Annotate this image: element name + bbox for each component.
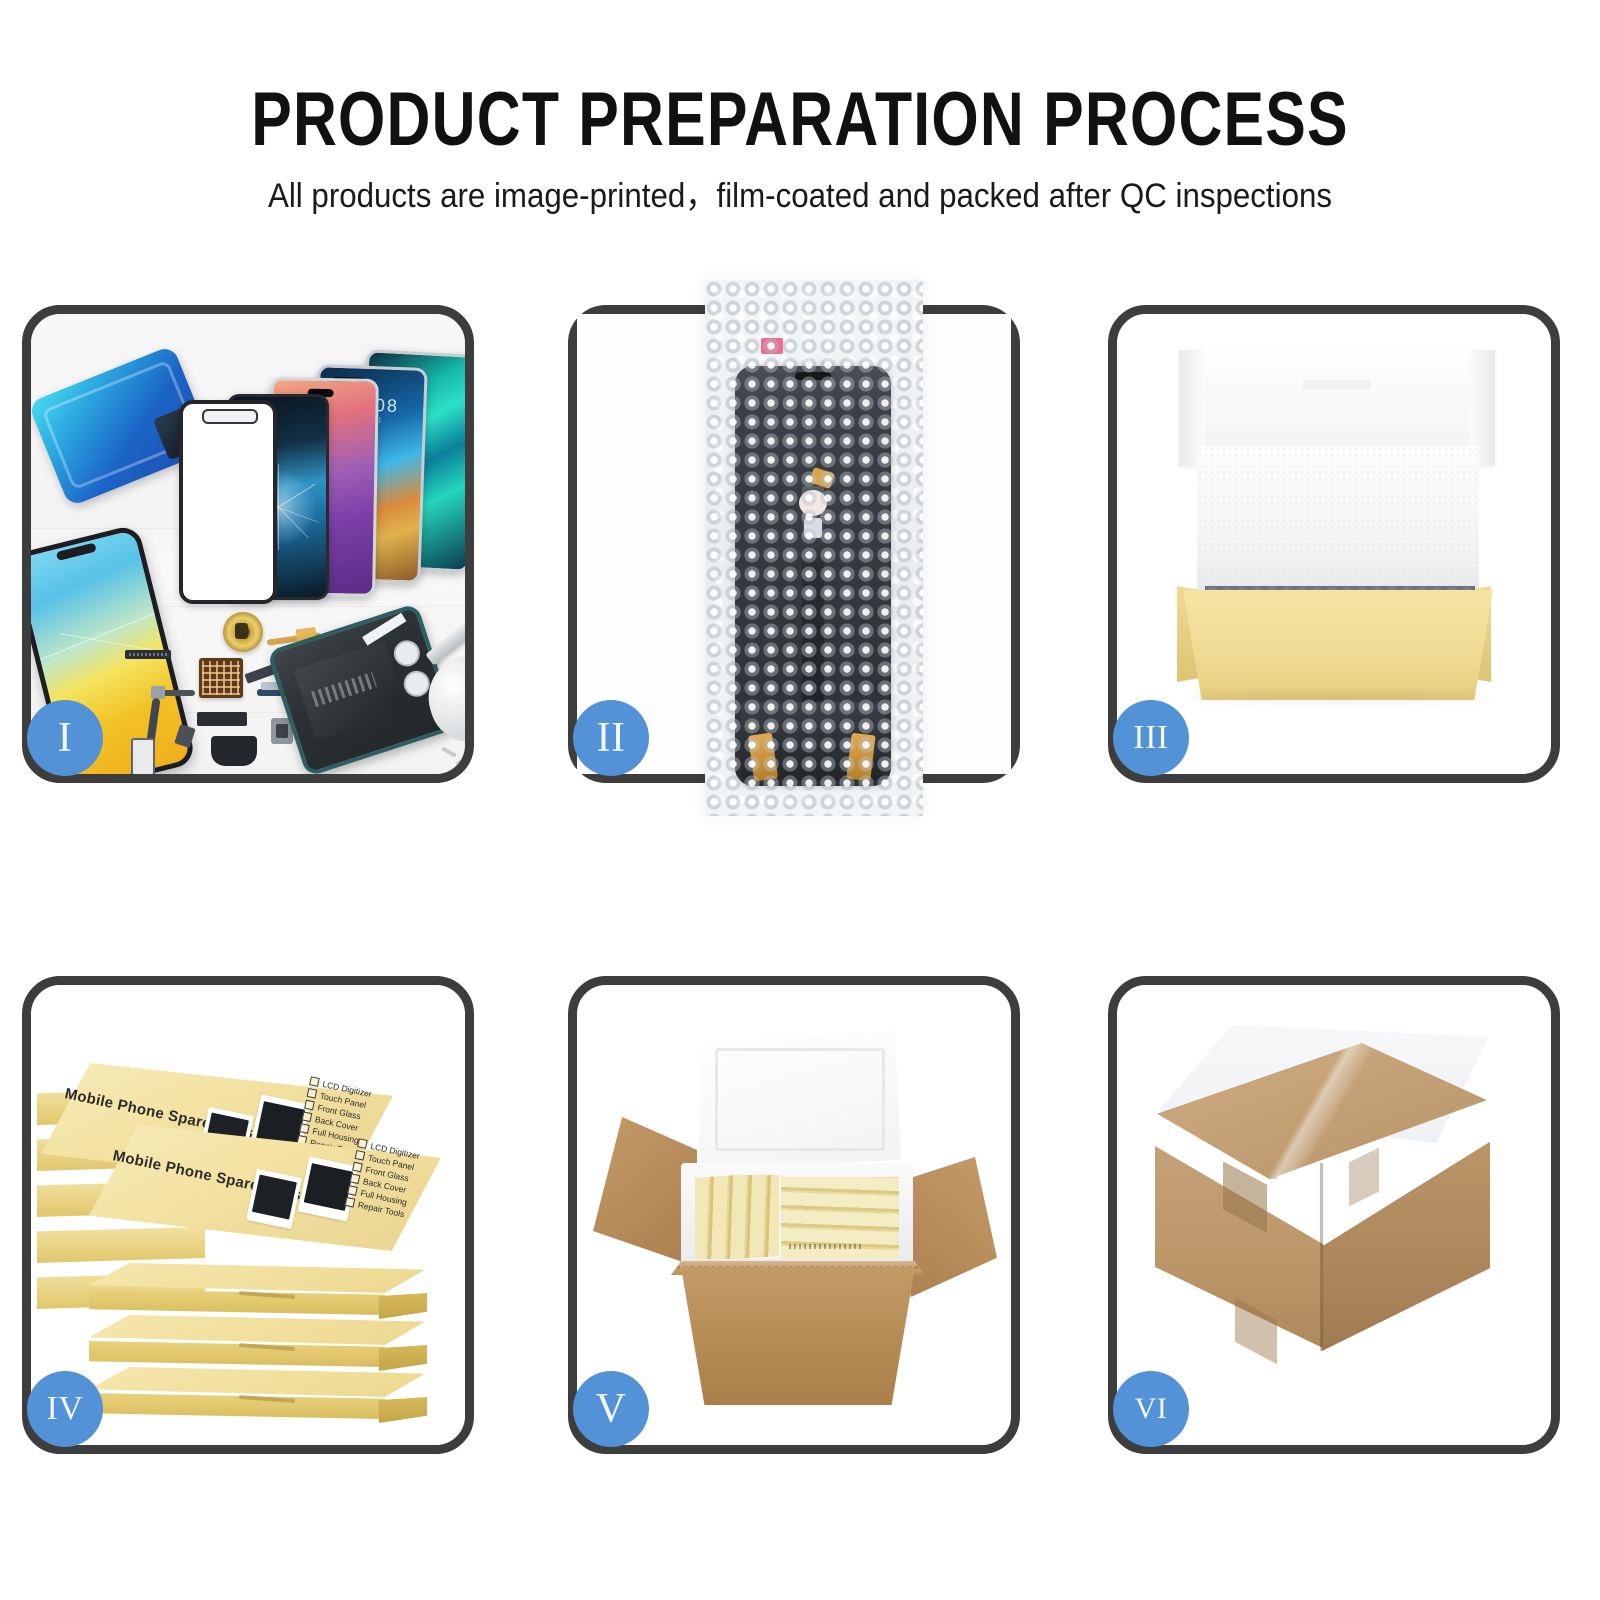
stacked-box: [89, 1263, 425, 1309]
panel-2-image: [577, 314, 1011, 774]
process-step-panel-5: V: [568, 976, 1020, 1454]
checkbox-icon: [350, 1173, 361, 1184]
step-numeral: V: [596, 1388, 627, 1430]
carton-vertical-edge: [1320, 1163, 1323, 1351]
checkbox-icon: [355, 1150, 366, 1161]
process-step-panel-1: 08:08Thu 21 I: [22, 305, 474, 783]
step-badge-6: VI: [1113, 1371, 1189, 1447]
checkbox-icon: [304, 1100, 315, 1111]
checkbox-icon: [345, 1197, 356, 1208]
stacked-box: [89, 1367, 425, 1413]
checkbox-icon: [357, 1138, 368, 1149]
step-badge-5: V: [573, 1371, 649, 1447]
checkbox-icon: [352, 1162, 363, 1173]
gold-box-column-right: [781, 1177, 899, 1259]
panel-5-image: [577, 985, 1011, 1445]
screws-group: [441, 746, 465, 772]
checkbox-icon: [307, 1088, 318, 1099]
step-badge-2: II: [573, 700, 649, 776]
ic-chip: [199, 658, 243, 698]
process-step-panel-4: Mobile Phone Spare Parts LCD Digitizer T…: [22, 976, 474, 1454]
page-subtitle: All products are image-printed，film-coat…: [64, 168, 1536, 217]
carton-body: [681, 1267, 915, 1405]
gold-box-column-left: [695, 1175, 779, 1259]
loudspeaker-module: [197, 712, 247, 726]
bubble-wrap-overlay: [705, 280, 923, 816]
process-step-panel-3: III: [1108, 305, 1560, 783]
bubble-wrap-bag: [705, 280, 923, 816]
wireless-charging-coil: [223, 612, 263, 652]
checkbox-icon: [347, 1185, 358, 1196]
earpiece-speaker-mesh: [125, 650, 171, 659]
step-numeral: II: [597, 717, 626, 759]
step-badge-1: I: [27, 700, 103, 776]
checkbox-icon: [302, 1111, 313, 1122]
panel-6-image: [1117, 985, 1551, 1445]
drop-shadow: [1189, 692, 1489, 702]
page-header: PRODUCT PREPARATION PROCESS All products…: [0, 0, 1600, 260]
white-foam-sheet: [1197, 446, 1479, 590]
panel-1-image: 08:08Thu 21: [31, 314, 465, 774]
gold-boxes-inside: [695, 1175, 899, 1259]
sim-card-tray: [131, 738, 155, 774]
panel-4-image: Mobile Phone Spare Parts LCD Digitizer T…: [31, 985, 465, 1445]
vibration-motor: [211, 736, 257, 766]
retail-box-lid: Mobile Phone Spare Parts LCD Digitizer T…: [89, 1125, 441, 1251]
stacked-box: [89, 1315, 425, 1361]
step-numeral: IV: [47, 1392, 84, 1426]
gold-box-body: [1183, 590, 1493, 700]
styrofoam-lid: [697, 1031, 901, 1171]
process-step-panel-2: II: [568, 305, 1020, 783]
step-badge-4: IV: [27, 1371, 103, 1447]
step-numeral: III: [1133, 721, 1168, 755]
front-glass-panel: [179, 400, 277, 604]
box-stack: Mobile Phone Spare Parts LCD Digitizer T…: [31, 985, 465, 1445]
process-step-panel-6: VI: [1108, 976, 1560, 1454]
panel-3-image: [1117, 314, 1551, 774]
checkbox-icon: [309, 1076, 320, 1087]
step-badge-3: III: [1113, 700, 1189, 776]
step-numeral: VI: [1135, 1394, 1168, 1424]
step-numeral: I: [58, 717, 73, 759]
page-title: PRODUCT PREPARATION PROCESS: [160, 76, 1440, 163]
